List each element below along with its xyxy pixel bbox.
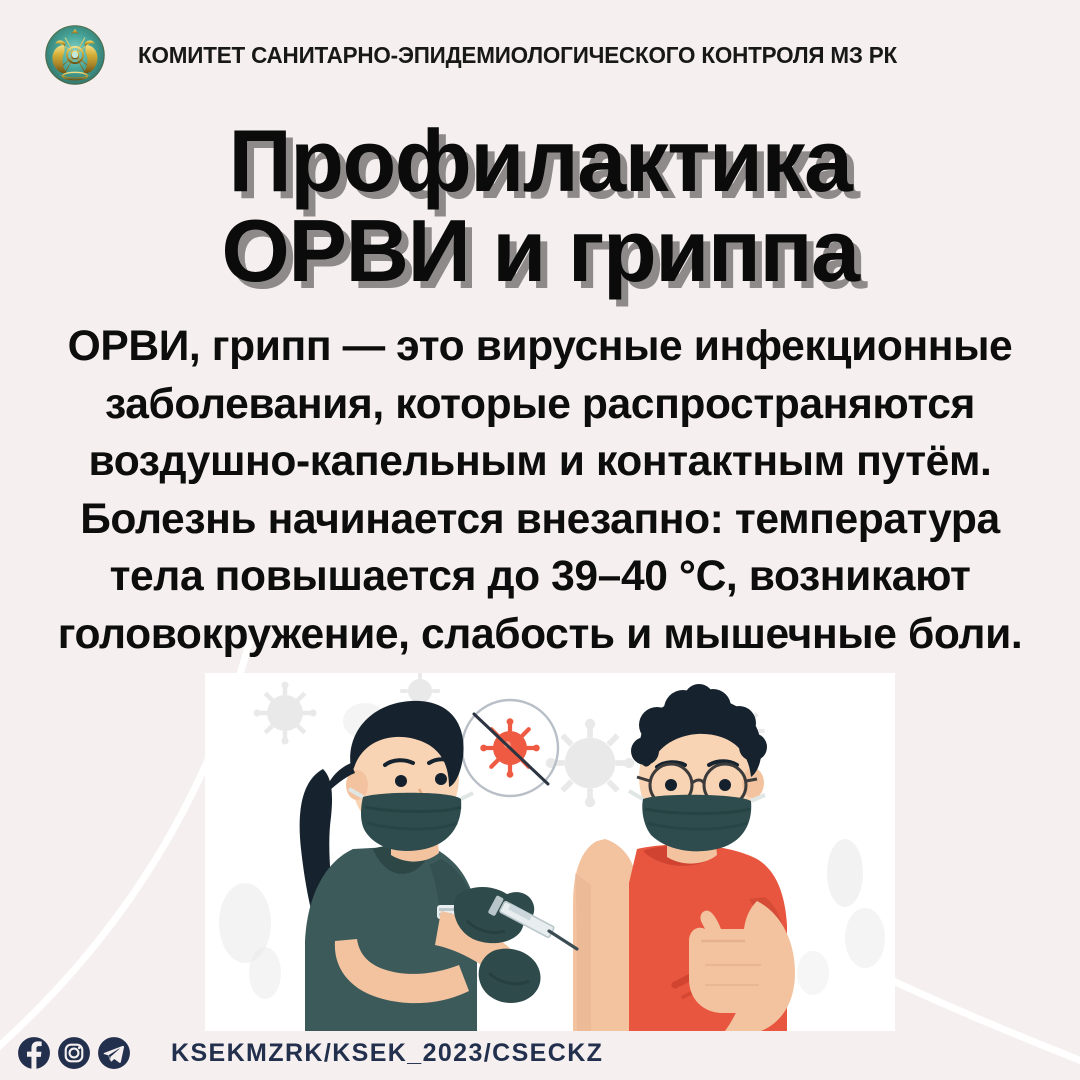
vaccination-illustration (205, 673, 895, 1031)
body-text: ОРВИ, грипп — это вирусные инфекционные … (40, 318, 1040, 663)
poster-footer: KSEKMZRK/KSEK_2023/CSECKZ (0, 1026, 1080, 1080)
instagram-icon[interactable] (57, 1036, 91, 1070)
body-line: воздушно-капельным и контактным путём. (45, 433, 1035, 491)
telegram-icon[interactable] (97, 1036, 131, 1070)
body-line: головокружение, слабость и мышечные боли… (45, 606, 1035, 664)
body-line: тела повышается до 39–40 °C, возникают (45, 548, 1035, 606)
body-line: ОРВИ, грипп — это вирусные инфекционные (45, 318, 1035, 376)
social-links (17, 1036, 131, 1070)
title-line-1: Профилактика (0, 116, 1080, 206)
facebook-icon[interactable] (17, 1036, 51, 1070)
kazakhstan-state-emblem-icon (44, 24, 106, 86)
title-line-2: ОРВИ и гриппа (0, 206, 1080, 296)
social-handle: KSEKMZRK/KSEK_2023/CSECKZ (171, 1039, 603, 1068)
organization-name: КОМИТЕТ САНИТАРНО-ЭПИДЕМИОЛОГИЧЕСКОГО КО… (138, 42, 897, 69)
poster-header: КОМИТЕТ САНИТАРНО-ЭПИДЕМИОЛОГИЧЕСКОГО КО… (0, 0, 1080, 110)
body-line: Болезнь начинается внезапно: температура (45, 491, 1035, 549)
body-line: заболевания, которые распространяются (45, 376, 1035, 434)
page-title: Профилактика ОРВИ и гриппа (0, 116, 1080, 296)
infographic-poster: КОМИТЕТ САНИТАРНО-ЭПИДЕМИОЛОГИЧЕСКОГО КО… (0, 0, 1080, 1080)
